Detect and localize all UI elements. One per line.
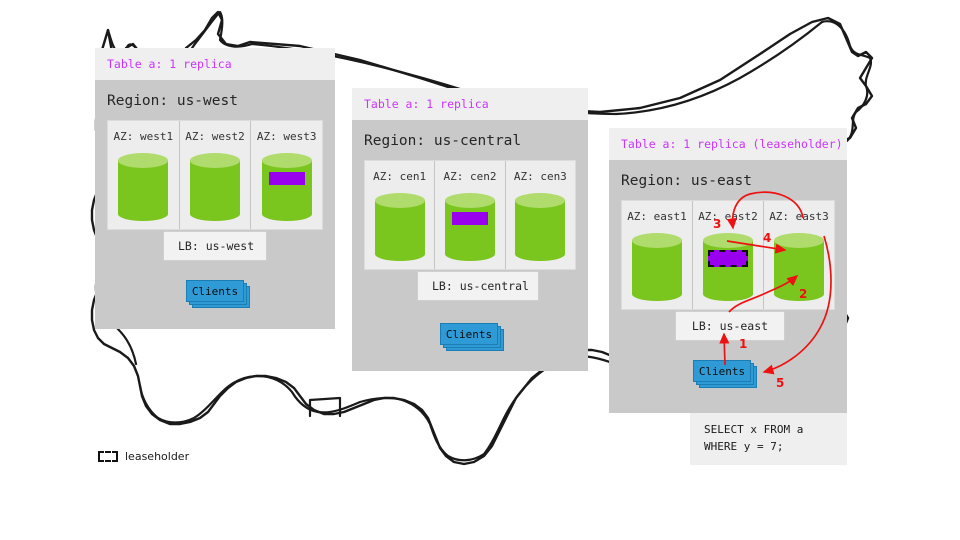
clients-label-us-central: Clients — [440, 323, 498, 345]
cylinder-top — [445, 193, 495, 208]
region-card-us-west: Table a: 1 replica Region: us-west AZ: w… — [95, 48, 335, 329]
cylinder-body — [118, 160, 168, 214]
card-title-us-central: Table a: 1 replica — [352, 88, 588, 120]
step-number-2: 2 — [799, 287, 807, 301]
az-row-us-west: AZ: west1 AZ: west2 AZ: west3 — [107, 120, 323, 230]
lb-box-us-west[interactable]: LB: us-west — [163, 231, 267, 261]
cylinder-top — [118, 153, 168, 168]
step-number-5: 5 — [776, 376, 784, 390]
region-label-us-east: Region: us-east — [609, 160, 847, 200]
cylinder-top — [632, 233, 682, 248]
node-cylinder-cen3[interactable] — [515, 193, 565, 261]
diagram-canvas: Table a: 1 replica Region: us-west AZ: w… — [0, 0, 960, 540]
replica-marker-cen2 — [452, 212, 488, 225]
az-label-east3: AZ: east3 — [764, 210, 834, 223]
clients-stack-us-east[interactable]: Clients — [693, 360, 753, 384]
region-card-us-east: Table a: 1 replica (leaseholder) Region:… — [609, 128, 847, 413]
cylinder-top — [190, 153, 240, 168]
az-label-cen3: AZ: cen3 — [506, 170, 575, 183]
az-label-east2: AZ: east2 — [693, 210, 763, 223]
cylinder-bottom — [375, 247, 425, 261]
card-title-us-west: Table a: 1 replica — [95, 48, 335, 80]
az-cell-west3[interactable]: AZ: west3 — [251, 121, 322, 229]
cylinder-top — [515, 193, 565, 208]
node-cylinder-cen2[interactable] — [445, 193, 495, 261]
card-title-us-east: Table a: 1 replica (leaseholder) — [609, 128, 847, 160]
az-label-west1: AZ: west1 — [108, 130, 179, 143]
cylinder-top — [774, 233, 824, 248]
az-cell-east1[interactable]: AZ: east1 — [622, 201, 693, 309]
az-cell-cen2[interactable]: AZ: cen2 — [435, 161, 505, 269]
region-label-us-west: Region: us-west — [95, 80, 335, 120]
cylinder-top — [703, 233, 753, 248]
cylinder-body — [703, 240, 753, 294]
cylinder-top — [375, 193, 425, 208]
az-label-east1: AZ: east1 — [622, 210, 692, 223]
az-cell-west1[interactable]: AZ: west1 — [108, 121, 180, 229]
clients-label-us-east: Clients — [693, 360, 751, 382]
node-cylinder-east1[interactable] — [632, 233, 682, 301]
az-label-cen1: AZ: cen1 — [365, 170, 434, 183]
sql-query-box: SELECT x FROM a WHERE y = 7; — [690, 413, 847, 465]
lb-box-us-east[interactable]: LB: us-east — [675, 311, 785, 341]
cylinder-body — [632, 240, 682, 294]
clients-label-us-west: Clients — [186, 280, 244, 302]
region-label-us-central: Region: us-central — [352, 120, 588, 160]
az-cell-east2[interactable]: AZ: east2 — [693, 201, 764, 309]
node-cylinder-west1[interactable] — [118, 153, 168, 221]
leaseholder-replica-east2 — [708, 250, 748, 267]
node-cylinder-cen1[interactable] — [375, 193, 425, 261]
az-cell-west2[interactable]: AZ: west2 — [180, 121, 252, 229]
clients-stack-us-central[interactable]: Clients — [440, 323, 500, 347]
clients-stack-us-west[interactable]: Clients — [186, 280, 246, 304]
step-number-3: 3 — [713, 217, 721, 231]
lb-box-us-central[interactable]: LB: us-central — [417, 271, 539, 301]
cylinder-body — [774, 240, 824, 294]
az-label-west2: AZ: west2 — [180, 130, 251, 143]
node-cylinder-east2[interactable] — [703, 233, 753, 301]
cylinder-bottom — [515, 247, 565, 261]
az-cell-cen1[interactable]: AZ: cen1 — [365, 161, 435, 269]
az-label-west3: AZ: west3 — [251, 130, 322, 143]
cylinder-body — [515, 200, 565, 254]
cylinder-bottom — [445, 247, 495, 261]
cylinder-bottom — [262, 207, 312, 221]
region-card-us-central: Table a: 1 replica Region: us-central AZ… — [352, 88, 588, 371]
step-number-4: 4 — [763, 231, 771, 245]
step-number-1: 1 — [739, 337, 747, 351]
cylinder-body — [262, 160, 312, 214]
cylinder-bottom — [190, 207, 240, 221]
cylinder-body — [190, 160, 240, 214]
cylinder-top — [262, 153, 312, 168]
az-label-cen2: AZ: cen2 — [435, 170, 504, 183]
cylinder-body — [445, 200, 495, 254]
replica-marker-west3 — [269, 172, 305, 185]
cylinder-body — [375, 200, 425, 254]
cylinder-bottom — [632, 287, 682, 301]
cylinder-bottom — [118, 207, 168, 221]
az-cell-cen3[interactable]: AZ: cen3 — [506, 161, 575, 269]
az-row-us-central: AZ: cen1 AZ: cen2 AZ: cen3 — [364, 160, 576, 270]
node-cylinder-west3[interactable] — [262, 153, 312, 221]
cylinder-bottom — [703, 287, 753, 301]
dashed-rect-icon — [98, 451, 118, 462]
legend-leaseholder: leaseholder — [98, 450, 189, 463]
node-cylinder-west2[interactable] — [190, 153, 240, 221]
legend-label: leaseholder — [125, 450, 189, 463]
